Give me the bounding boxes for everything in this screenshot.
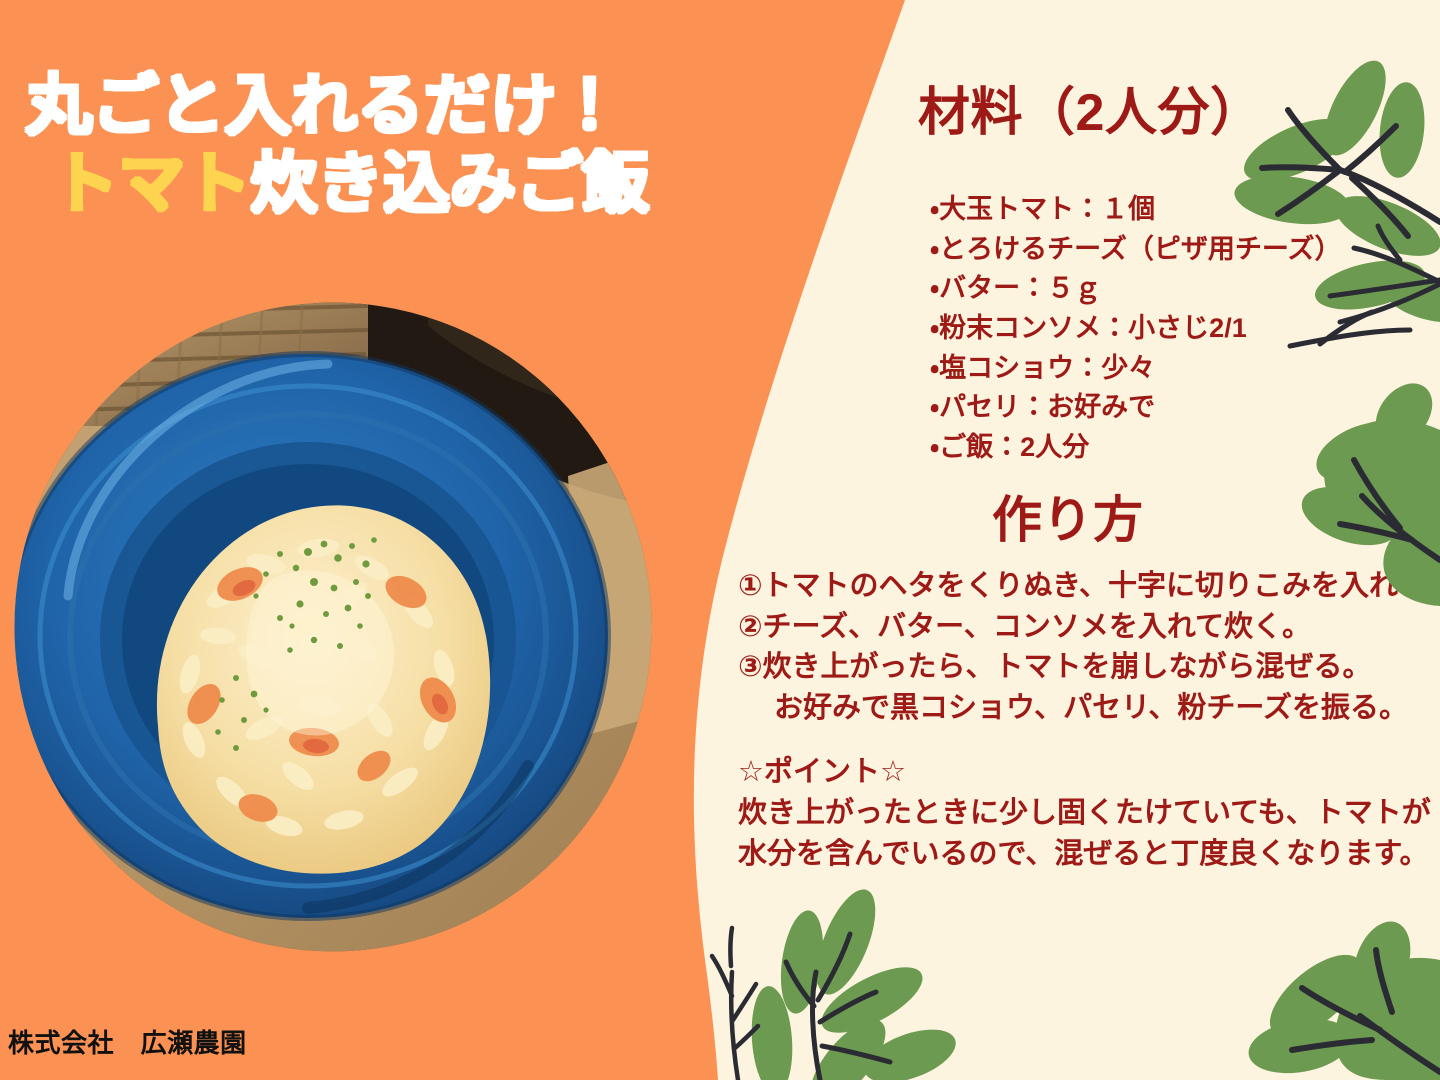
method-step: ①トマトのヘタをくりぬき、十字に切りこみを入れる [738, 566, 1438, 607]
ingredients-list: ・大玉トマト：１個 ・とろけるチーズ（ピザ用チーズ） ・バター：５ｇ ・粉末コン… [930, 190, 1341, 468]
method-step-continuation: お好みで黒コショウ、パセリ、粉チーズを振る。 [738, 688, 1438, 729]
footer-company-name: 株式会社 広瀬農園 [8, 1023, 247, 1060]
headline-line-2-rest: 炊き込みご飯 [251, 146, 649, 220]
dish-photo-illustration [8, 296, 658, 958]
recipe-content-column: 材料（2人分） ・大玉トマト：１個 ・とろけるチーズ（ピザ用チーズ） ・バター：… [726, 0, 1440, 1080]
headline-accent-word: トマト [52, 146, 251, 220]
method-heading: 作り方 [992, 480, 1144, 552]
point-note: ☆ポイント☆ 炊き上がったときに少し固くたけていても、トマトが 水分を含んでいる… [738, 752, 1438, 876]
method-step: ②チーズ、バター、コンソメを入れて炊く。 [738, 607, 1438, 648]
list-item: ・大玉トマト：１個 [930, 190, 1341, 230]
list-item: ・パセリ：お好みで [930, 388, 1341, 428]
list-item: ・粉末コンソメ：小さじ2/1 [930, 309, 1341, 349]
page-title: 丸ごと入れるだけ！ トマト炊き込みご飯 [26, 72, 786, 216]
list-item: ・とろけるチーズ（ピザ用チーズ） [930, 230, 1341, 270]
list-item: ・塩コショウ：少々 [930, 349, 1341, 389]
dish-photo [8, 296, 658, 958]
list-item: ・ご飯：2人分 [930, 428, 1341, 468]
method-steps: ①トマトのヘタをくりぬき、十字に切りこみを入れる ②チーズ、バター、コンソメを入… [738, 566, 1438, 728]
list-item: ・バター：５ｇ [930, 269, 1341, 309]
point-line: 水分を含んでいるので、混ぜると丁度良くなります。 [738, 834, 1438, 875]
dish-photo-mask [8, 296, 658, 958]
point-heading: ☆ポイント☆ [738, 752, 1438, 793]
ingredients-heading: 材料（2人分） [918, 70, 1263, 145]
recipe-card: 丸ごと入れるだけ！ トマト炊き込みご飯 [0, 0, 1440, 1080]
point-line: 炊き上がったときに少し固くたけていても、トマトが [738, 793, 1438, 834]
method-step: ③炊き上がったら、トマトを崩しながら混ぜる。 [738, 647, 1438, 688]
headline-line-1: 丸ごと入れるだけ！ [26, 72, 786, 138]
headline-line-2: トマト炊き込みご飯 [52, 150, 786, 216]
